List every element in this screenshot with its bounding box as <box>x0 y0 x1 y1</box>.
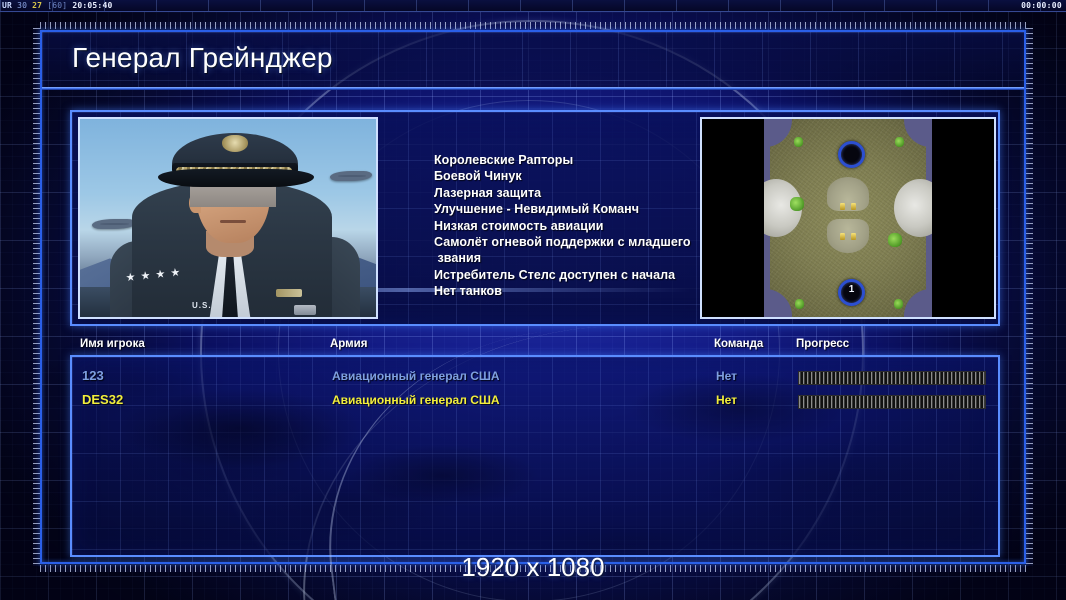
player-list-panel: 123 Авиационный генерал США Нет DES32 Ав… <box>70 355 1000 557</box>
map-start-position-bottom[interactable]: 1 <box>838 279 865 306</box>
fps-prefix: UR <box>2 1 12 10</box>
map-supply-icon <box>851 233 856 240</box>
map-tree-cluster <box>894 299 903 309</box>
column-header-army: Армия <box>330 338 367 350</box>
game-menu-screen: UR 30 27 [60] 20:05:40 00:00:00 Генерал … <box>0 0 1066 600</box>
table-row[interactable]: DES32 Авиационный генерал США Нет <box>72 390 998 412</box>
column-header-name: Имя игрока <box>80 338 145 350</box>
player-team[interactable]: Нет <box>716 369 737 383</box>
map-tree-cluster <box>790 197 804 211</box>
portrait-cap-brim <box>158 169 314 187</box>
map-preview-image: 1 <box>764 119 932 317</box>
player-progress-bar <box>798 395 986 409</box>
map-tree-cluster <box>794 137 803 147</box>
fps-bracket: [60] <box>47 1 67 10</box>
map-tree-cluster <box>895 137 904 147</box>
page-title: Генерал Грейнджер <box>72 42 333 74</box>
player-army[interactable]: Авиационный генерал США <box>332 369 500 383</box>
map-tree-cluster <box>888 233 902 247</box>
general-portrait: U.S. <box>78 117 378 319</box>
ruler-right <box>1026 28 1033 566</box>
map-start-position-top[interactable] <box>838 141 865 168</box>
eagle-crest-icon <box>222 135 248 152</box>
map-preview[interactable]: 1 <box>700 117 996 319</box>
top-status-bar <box>0 0 1066 12</box>
player-name: DES32 <box>82 392 123 407</box>
portrait-mouth <box>220 220 246 223</box>
map-supply-icon <box>840 233 845 240</box>
us-lapel-label: U.S. <box>192 301 212 310</box>
map-supply-icon <box>840 203 845 210</box>
ribbon-bar-icon <box>276 289 302 297</box>
fps-status-readout: UR 30 27 [60] 20:05:40 <box>2 0 112 11</box>
column-header-progress: Прогресс <box>796 338 849 350</box>
map-ridge <box>827 177 869 211</box>
general-info-panel: U.S. Королевские Рапторы Боевой Чинук Ла… <box>70 110 1000 326</box>
name-plate-icon <box>294 305 316 315</box>
resolution-label: 1920 x 1080 <box>0 552 1066 583</box>
elapsed-timer: 00:00:00 <box>1021 0 1062 11</box>
frame-border-left <box>40 30 42 564</box>
top-bar-tickmarks <box>0 0 1066 11</box>
map-ridge <box>827 219 869 253</box>
system-clock: 20:05:40 <box>72 1 112 10</box>
column-header-team: Команда <box>714 338 763 350</box>
map-supply-icon <box>851 203 856 210</box>
fps-value-2: 27 <box>32 1 42 10</box>
ruler-top <box>40 22 1026 29</box>
ruler-left <box>33 28 40 566</box>
table-row[interactable]: 123 Авиационный генерал США Нет <box>72 366 998 388</box>
player-army[interactable]: Авиационный генерал США <box>332 393 500 407</box>
player-progress-bar <box>798 371 986 385</box>
player-team[interactable]: Нет <box>716 393 737 407</box>
map-tree-cluster <box>795 299 804 309</box>
title-separator <box>42 87 1024 90</box>
player-name: 123 <box>82 368 104 383</box>
fps-value-1: 30 <box>17 1 27 10</box>
frame-border-right <box>1024 30 1026 564</box>
